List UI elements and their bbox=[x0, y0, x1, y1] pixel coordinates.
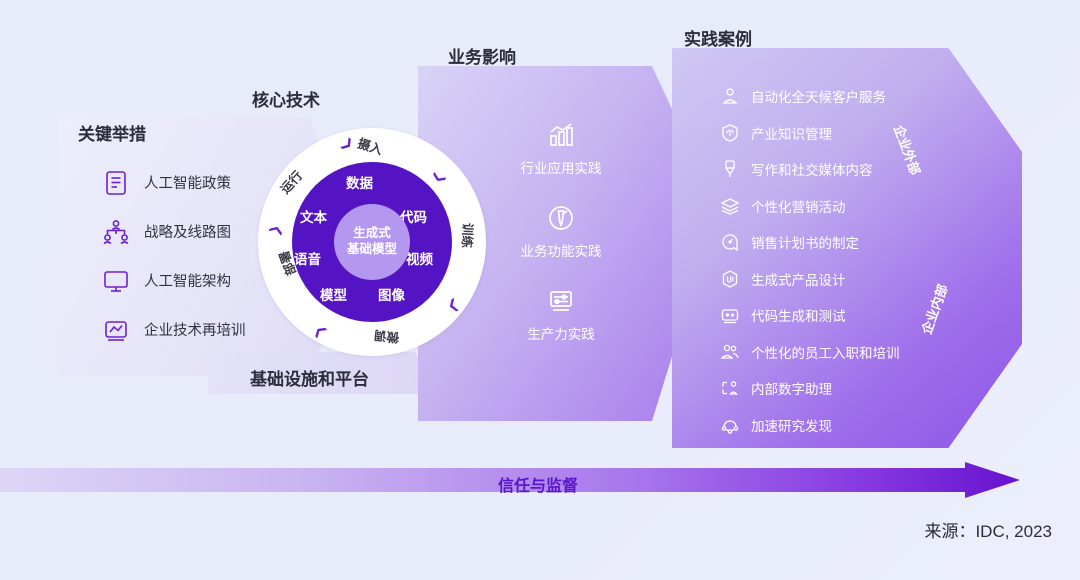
code-window-icon bbox=[718, 304, 742, 326]
list-item[interactable]: 个性化的员工入职和培训 bbox=[718, 334, 948, 371]
document-icon bbox=[100, 168, 132, 198]
inner-label-text: 文本 bbox=[300, 206, 327, 226]
list-item[interactable]: 自动化全天候客户服务 bbox=[718, 78, 948, 115]
chart-box-icon bbox=[100, 315, 132, 345]
bar-chart-icon bbox=[496, 118, 626, 152]
inner-label-image: 图像 bbox=[378, 284, 405, 304]
ui-box-icon bbox=[718, 268, 742, 290]
list-item[interactable]: 代码生成和测试 bbox=[718, 297, 948, 334]
list-item-label: 行业应用实践 bbox=[496, 157, 626, 177]
inner-label-data: 数据 bbox=[346, 172, 373, 192]
sliders-icon bbox=[496, 284, 626, 318]
list-item[interactable]: 生产力实践 bbox=[496, 284, 626, 367]
outer-label-finetune: 微调 bbox=[373, 327, 400, 349]
assistant-icon bbox=[718, 377, 742, 399]
layers-icon bbox=[718, 195, 742, 217]
pen-nib-icon bbox=[718, 158, 742, 180]
list-item-label: 写作和社交媒体内容 bbox=[751, 159, 873, 179]
core-tech-circle: 数据 代码 视频 图像 模型 语音 文本 生成式 基础模型 摄入 训练 微调 部… bbox=[258, 128, 486, 356]
infographic-canvas: 关键举措 核心技术 业务影响 实践案例 基础设施和平台 人工智能政策 bbox=[0, 0, 1080, 580]
list-item-label: 企业技术再培训 bbox=[144, 319, 246, 340]
list-item[interactable]: 生成式产品设计 bbox=[718, 261, 948, 298]
practice-cases-list: 自动化全天候客户服务 产业知识管理 写作和社交媒体内容 bbox=[718, 78, 948, 443]
shield-icon bbox=[718, 122, 742, 144]
list-item-label: 业务功能实践 bbox=[496, 240, 626, 260]
list-item[interactable]: 行业应用实践 bbox=[496, 118, 626, 201]
list-item-label: 加速研究发现 bbox=[751, 415, 832, 435]
inner-label-model: 模型 bbox=[320, 284, 347, 304]
core-label: 生成式 基础模型 bbox=[334, 204, 410, 280]
list-item[interactable]: 加速研究发现 bbox=[718, 407, 948, 444]
person-icon bbox=[718, 85, 742, 107]
list-item-label: 人工智能政策 bbox=[144, 172, 231, 193]
list-item-label: 战略及线路图 bbox=[144, 221, 231, 242]
list-item-label: 代码生成和测试 bbox=[751, 305, 846, 325]
gauge-icon bbox=[718, 231, 742, 253]
arrow-label: 信任与监督 bbox=[498, 472, 578, 496]
list-item-label: 内部数字助理 bbox=[751, 378, 832, 398]
molecule-icon bbox=[718, 414, 742, 436]
list-item-label: 个性化营销活动 bbox=[751, 196, 846, 216]
source-text: 来源：IDC, 2023 bbox=[924, 517, 1052, 542]
list-item-label: 自动化全天候客户服务 bbox=[751, 86, 886, 106]
core-line-1: 生成式 bbox=[353, 226, 391, 242]
list-item-label: 生成式产品设计 bbox=[751, 269, 846, 289]
inner-label-video: 视频 bbox=[406, 248, 433, 268]
inner-label-voice: 语音 bbox=[294, 248, 321, 268]
list-item-label: 个性化的员工入职和培训 bbox=[751, 342, 900, 362]
gauge-tie-icon bbox=[496, 201, 626, 235]
key-measures-title: 关键举措 bbox=[78, 120, 146, 145]
business-impact-list: 行业应用实践 业务功能实践 生产力实践 bbox=[496, 118, 626, 367]
people-icon bbox=[718, 341, 742, 363]
org-chart-icon bbox=[100, 217, 132, 247]
core-tech-title: 核心技术 bbox=[252, 86, 320, 111]
list-item-label: 销售计划书的制定 bbox=[751, 232, 859, 252]
list-item[interactable]: 个性化营销活动 bbox=[718, 188, 948, 225]
list-item-label: 人工智能架构 bbox=[144, 270, 231, 291]
monitor-icon bbox=[100, 266, 132, 296]
list-item[interactable]: 内部数字助理 bbox=[718, 370, 948, 407]
list-item[interactable]: 销售计划书的制定 bbox=[718, 224, 948, 261]
list-item[interactable]: 业务功能实践 bbox=[496, 201, 626, 284]
infrastructure-title: 基础设施和平台 bbox=[250, 365, 369, 390]
list-item-label: 产业知识管理 bbox=[751, 123, 832, 143]
outer-label-train: 训练 bbox=[458, 223, 478, 249]
core-line-2: 基础模型 bbox=[347, 242, 397, 258]
business-impact-title: 业务影响 bbox=[448, 43, 516, 68]
list-item-label: 生产力实践 bbox=[496, 323, 626, 343]
practice-cases-title: 实践案例 bbox=[684, 25, 752, 50]
